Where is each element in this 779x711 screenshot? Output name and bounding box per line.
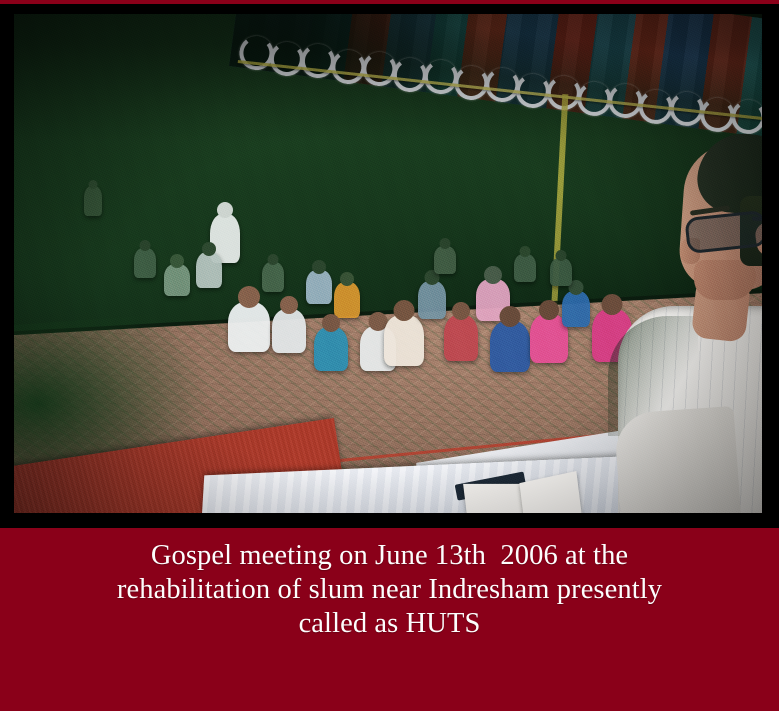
photo-card: Gospel meeting on June 13th 2006 at the …: [0, 0, 779, 711]
film-grain: [14, 14, 762, 513]
caption-text: Gospel meeting on June 13th 2006 at the …: [0, 539, 779, 641]
caption-band: Gospel meeting on June 13th 2006 at the …: [0, 528, 779, 711]
photograph: [14, 14, 762, 513]
